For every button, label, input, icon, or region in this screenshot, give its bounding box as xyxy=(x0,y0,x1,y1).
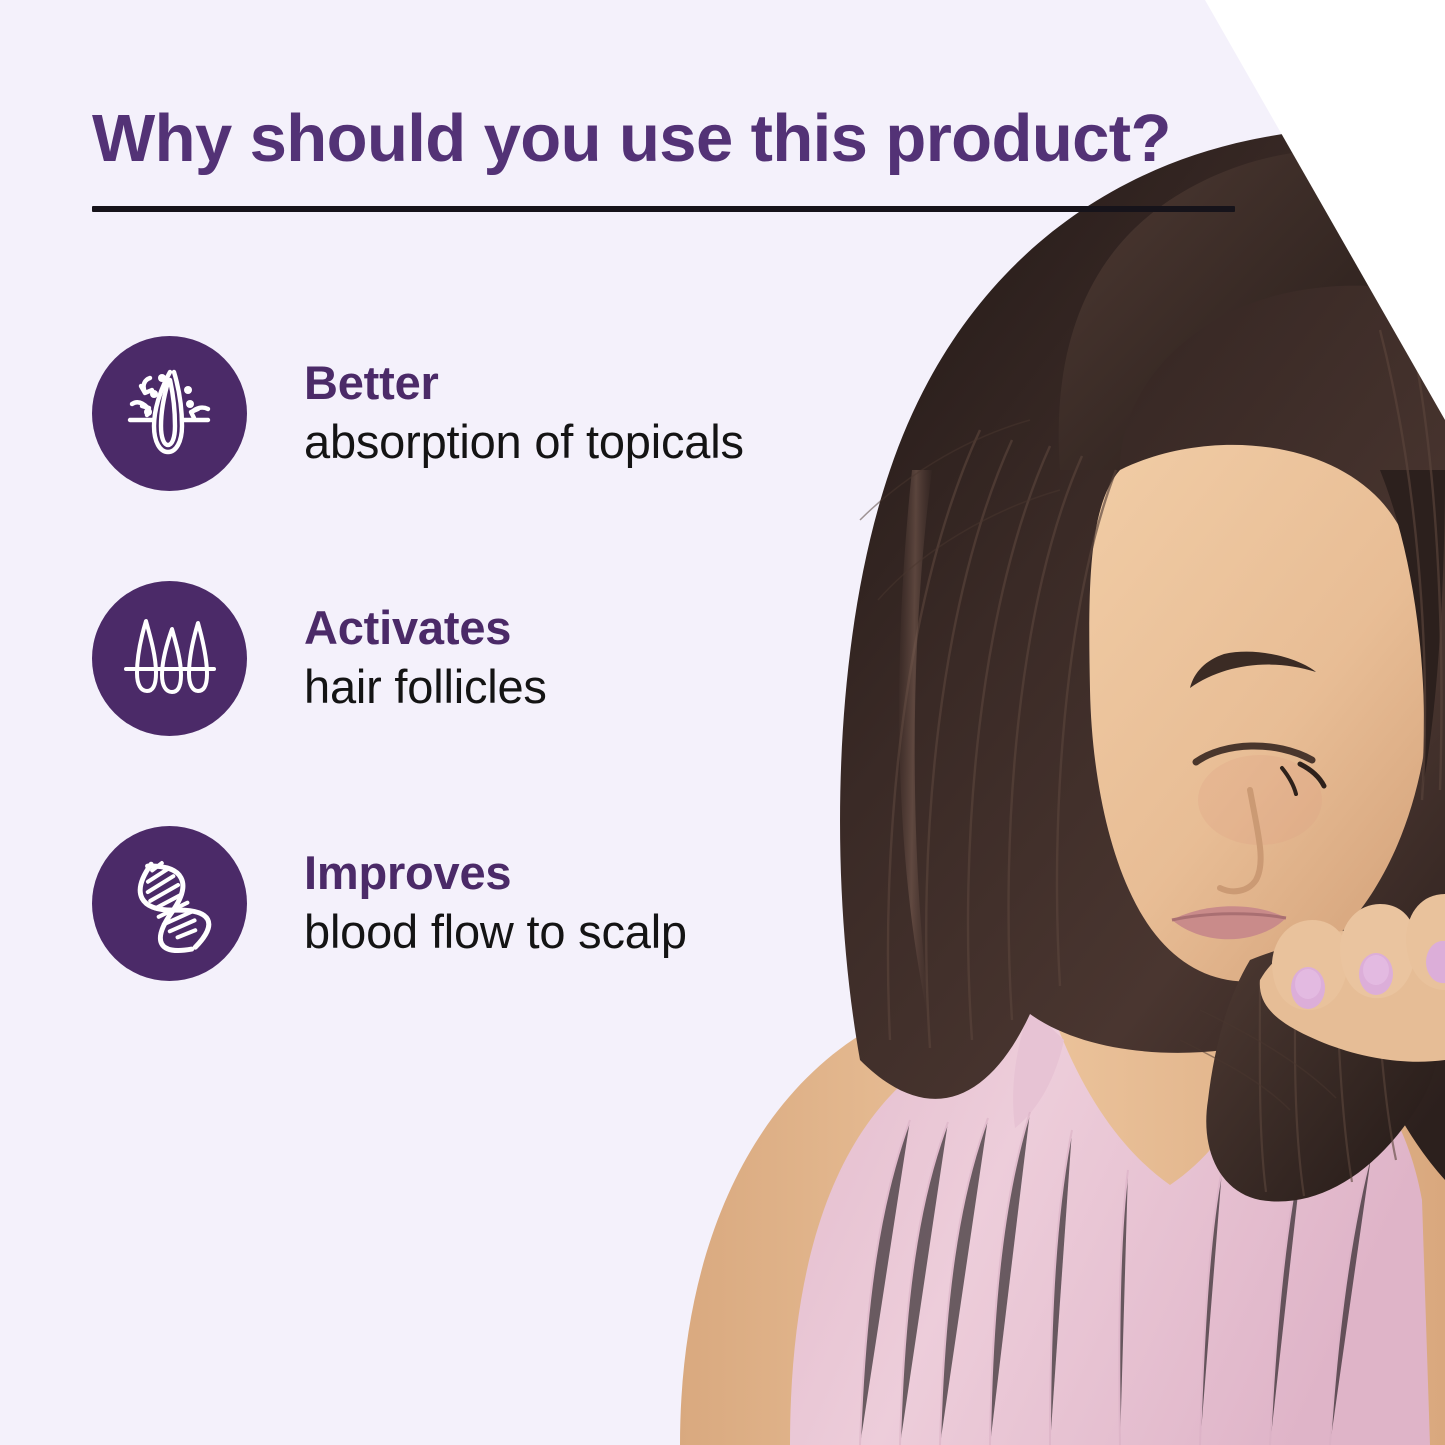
benefit-detail: blood flow to scalp xyxy=(304,901,687,963)
benefit-text: Better absorption of topicals xyxy=(304,355,744,473)
page-title: Why should you use this product? xyxy=(92,100,1242,178)
benefit-lead: Improves xyxy=(304,845,687,901)
benefit-text: Improves blood flow to scalp xyxy=(304,845,687,963)
benefit-text: Activates hair follicles xyxy=(304,600,547,718)
benefit-lead: Better xyxy=(304,355,744,411)
benefit-detail: hair follicles xyxy=(304,656,547,718)
list-item: Better absorption of topicals xyxy=(92,336,744,491)
benefit-detail: absorption of topicals xyxy=(304,411,744,473)
benefits-list: Better absorption of topicals xyxy=(92,336,744,981)
list-item: Activates hair follicles xyxy=(92,581,744,736)
infographic-canvas: Why should you use this product? xyxy=(0,0,1445,1445)
dna-helix-icon xyxy=(92,826,247,981)
heading-divider xyxy=(92,206,1235,212)
hair-follicle-absorption-icon xyxy=(92,336,247,491)
list-item: Improves blood flow to scalp xyxy=(92,826,744,981)
benefit-lead: Activates xyxy=(304,600,547,656)
heading-block: Why should you use this product? xyxy=(92,100,1242,212)
hair-follicles-icon xyxy=(92,581,247,736)
